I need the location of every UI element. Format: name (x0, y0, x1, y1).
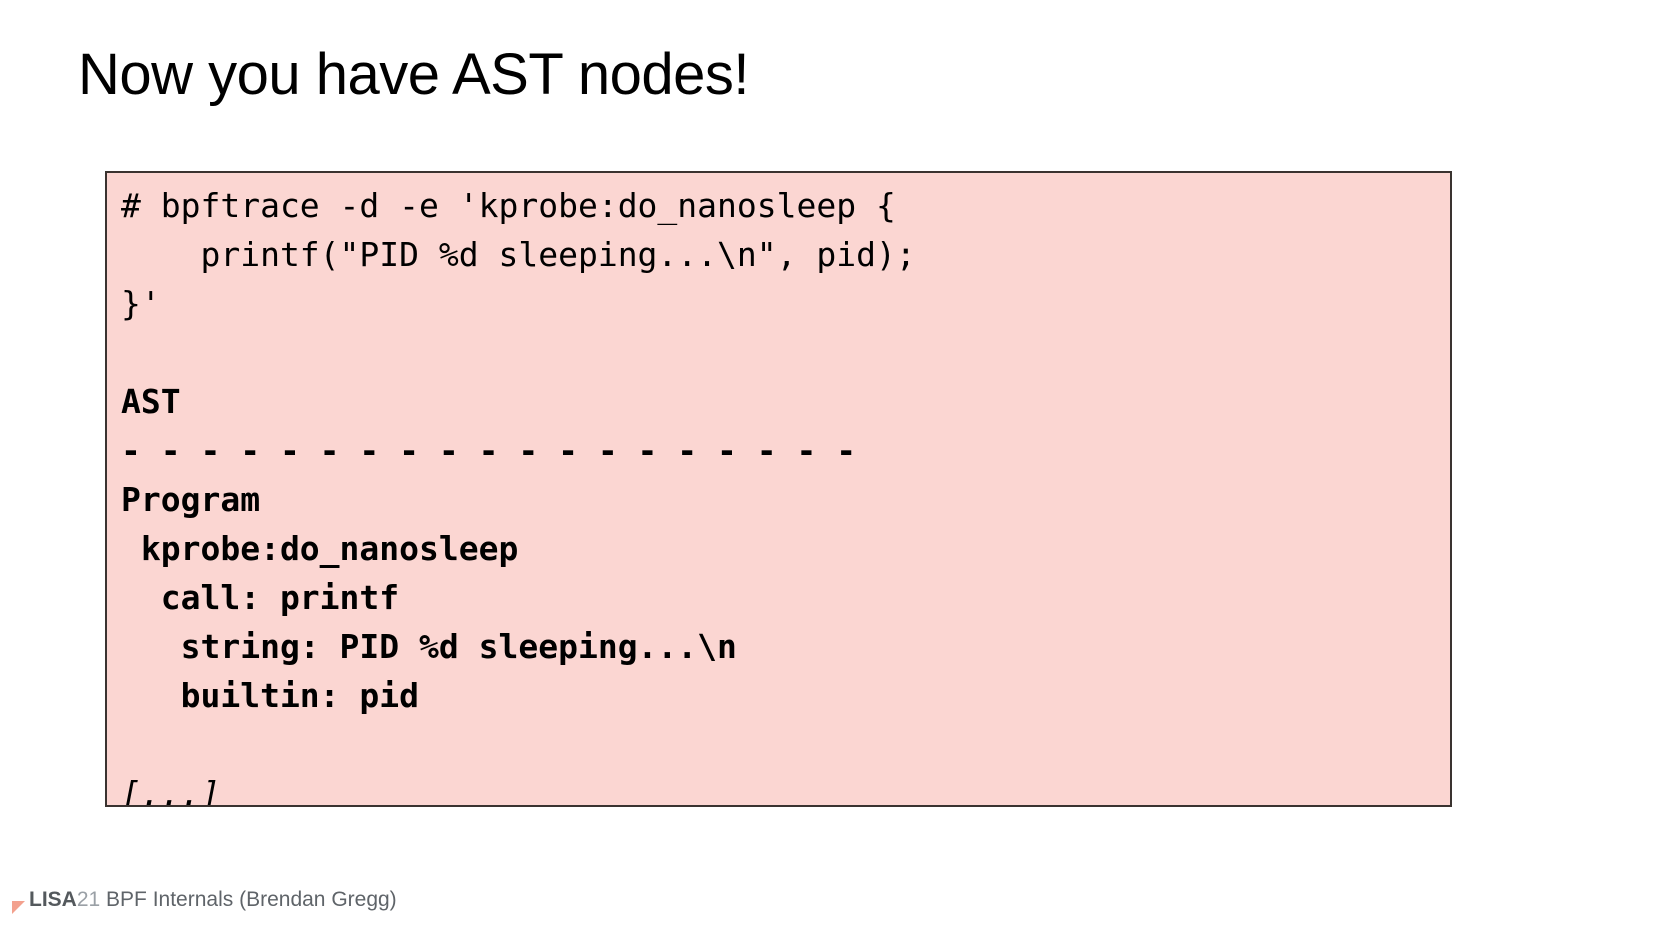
lisa-logo-mark-icon (12, 901, 25, 914)
footer-subtitle: BPF Internals (Brendan Gregg) (100, 888, 396, 911)
code-line (121, 328, 1450, 377)
code-line: # bpftrace -d -e 'kprobe:do_nanosleep { (121, 181, 1450, 230)
code-line: builtin: pid (121, 671, 1450, 720)
code-block: # bpftrace -d -e 'kprobe:do_nanosleep { … (105, 171, 1452, 807)
code-line (121, 720, 1450, 769)
code-line: AST (121, 377, 1450, 426)
code-line: string: PID %d sleeping...\n (121, 622, 1450, 671)
code-line: - - - - - - - - - - - - - - - - - - - (121, 426, 1450, 475)
page-title: Now you have AST nodes! (78, 40, 749, 110)
footer-brand: LISA (29, 888, 77, 911)
code-line: kprobe:do_nanosleep (121, 524, 1450, 573)
code-line: call: printf (121, 573, 1450, 622)
code-line: Program (121, 475, 1450, 524)
code-line: [...] (121, 769, 1450, 807)
code-line: printf("PID %d sleeping...\n", pid); (121, 230, 1450, 279)
code-line: }' (121, 279, 1450, 328)
footer: LISA21 BPF Internals (Brendan Gregg) (0, 880, 397, 920)
footer-text: LISA21 BPF Internals (Brendan Gregg) (29, 888, 397, 912)
footer-year: 21 (77, 888, 100, 911)
